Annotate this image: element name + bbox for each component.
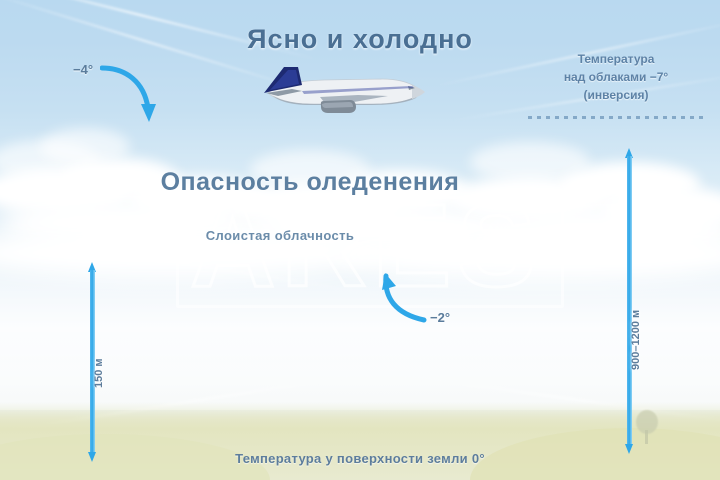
horizon-haze: [0, 260, 720, 410]
ground-temperature-note: Температура у поверхности земли 0°: [0, 451, 720, 466]
altitude-arrow-cloud-layer: [625, 148, 634, 454]
tree: [634, 410, 660, 444]
above-clouds-note-line1: Температура: [516, 50, 716, 68]
watermark-frame: [176, 196, 564, 308]
airflow-arrow-upper: [100, 62, 170, 124]
inversion-dotted-line: [528, 116, 704, 119]
temperature-label-upper: −4°: [73, 62, 93, 77]
above-clouds-note-line3: (инверсия): [516, 86, 716, 104]
above-clouds-note-line2: над облаками −7°: [516, 68, 716, 86]
weather-infographic: ARES Ясно и холодно Опасность ол: [0, 0, 720, 480]
temperature-label-mid: −2°: [430, 310, 450, 325]
cloud-type-subheadline: Слоистая облачность: [0, 228, 560, 243]
above-clouds-note: Температура над облаками −7° (инверсия): [516, 50, 716, 104]
arrow-head-down-icon: [625, 444, 633, 454]
icing-danger-headline: Опасность оледенения: [0, 168, 620, 197]
airplane-icon: [262, 63, 428, 121]
altitude-label-lower: 150 м: [93, 358, 105, 388]
watermark-ares: ARES: [170, 186, 562, 306]
arrow-head-down-icon: [88, 452, 96, 462]
tree-trunk: [645, 430, 648, 444]
altitude-label-cloud-layer: 900–1200 м: [630, 310, 642, 370]
arrow-shaft: [627, 156, 632, 446]
